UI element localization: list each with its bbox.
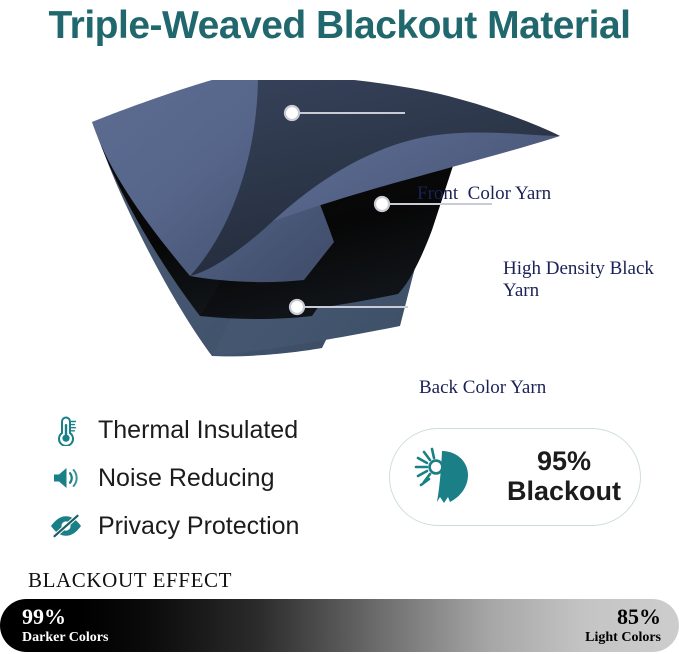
blackout-badge-value: 95% (488, 447, 640, 477)
blackout-effect-heading: BLACKOUT EFFECT (28, 568, 679, 593)
blackout-badge-caption: Blackout (488, 477, 640, 507)
fabric-layers-svg (0, 80, 679, 360)
blackout-effect-gradient-bar: 99% Darker Colors 85% Light Colors (0, 599, 679, 652)
blackout-effect-section: BLACKOUT EFFECT 99% Darker Colors 85% Li… (0, 568, 679, 652)
feature-item-noise-reducing: Noise Reducing (46, 456, 366, 500)
feature-label: Privacy Protection (98, 512, 299, 541)
feature-label: Noise Reducing (98, 464, 275, 493)
bar-stat-light-colors: 85% Light Colors (585, 605, 661, 645)
sun-blocking-curtain-icon (410, 446, 482, 508)
speaker-sound-icon (46, 461, 86, 495)
bar-stat-darker-colors: 99% Darker Colors (22, 605, 108, 645)
thermometer-icon (46, 413, 86, 447)
feature-item-privacy-protection: Privacy Protection (46, 504, 366, 548)
callout-label-back-color-yarn: Back Color Yarn (419, 377, 546, 399)
eye-slash-icon (46, 509, 86, 543)
bar-stat-value: 85% (585, 605, 661, 630)
page-title: Triple-Weaved Blackout Material (0, 4, 679, 48)
callout-label-high-density-black-yarn: High Density Black Yarn (503, 258, 663, 303)
features-list: Thermal Insulated Noise Reducing Privacy… (46, 408, 366, 552)
bar-stat-caption: Darker Colors (22, 630, 108, 646)
bar-stat-value: 99% (22, 605, 108, 630)
feature-item-thermal-insulated: Thermal Insulated (46, 408, 366, 452)
feature-label: Thermal Insulated (98, 416, 298, 445)
bar-stat-caption: Light Colors (585, 630, 661, 646)
blackout-percentage-badge: 95% Blackout (389, 428, 641, 526)
callout-label-front-color-yarn: Front Color Yarn (417, 183, 551, 205)
fabric-layers-diagram: Front Color Yarn High Density Black Yarn… (0, 80, 679, 360)
blackout-badge-text: 95% Blackout (488, 447, 640, 506)
